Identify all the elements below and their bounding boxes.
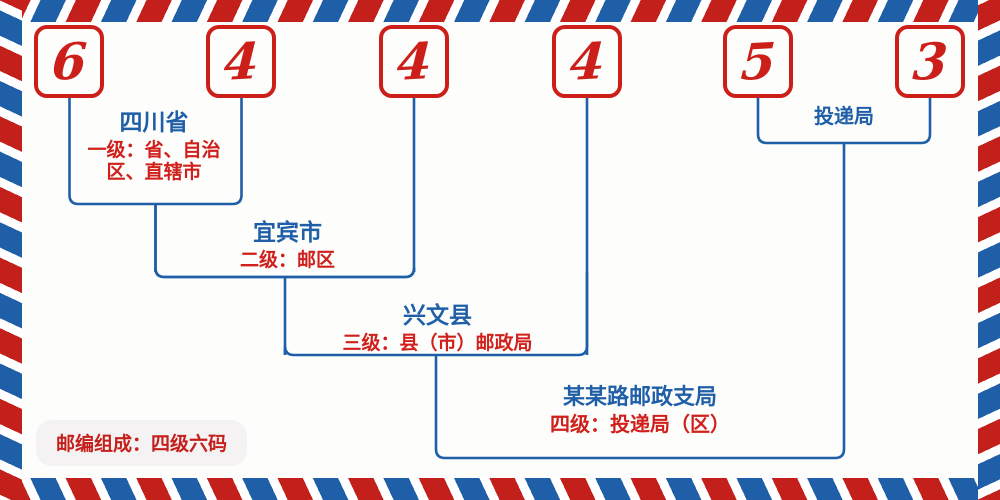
level-3-subtitle: 三级：县（市）邮政局: [300, 332, 575, 354]
digit-glyph: 4: [395, 36, 433, 88]
level-1-node: 四川省 一级：省、自治区、直辖市: [74, 110, 234, 184]
level-4-node: 某某路邮政支局 四级：投递局（区）: [470, 385, 810, 436]
bracket-delivery: [758, 130, 930, 143]
postcode-composition-legend: 邮编组成：四级六码: [36, 420, 247, 466]
level-2-node: 宜宾市 二级：邮区: [180, 220, 395, 271]
level-4-subtitle: 四级：投递局（区）: [470, 413, 810, 437]
postcode-digit-3[interactable]: 4: [379, 25, 449, 98]
envelope-postcode-diagram: 6 4 4 4 5 3 四川省 一级：省、自治区、直辖市 宜宾市 二级：邮区 兴…: [0, 0, 1000, 500]
digit-glyph: 6: [50, 36, 88, 88]
level-1-title: 四川省: [74, 110, 234, 136]
postcode-digit-4[interactable]: 4: [552, 25, 622, 98]
postcode-digit-5[interactable]: 5: [723, 25, 793, 98]
level-2-subtitle: 二级：邮区: [180, 249, 395, 271]
delivery-office-node: 投递局: [764, 105, 924, 127]
level-2-title: 宜宾市: [180, 220, 395, 246]
digit-glyph: 4: [222, 36, 260, 88]
level-3-node: 兴文县 三级：县（市）邮政局: [300, 303, 575, 354]
legend-label: 邮编组成：四级六码: [56, 433, 227, 455]
level-3-title: 兴文县: [300, 303, 575, 329]
delivery-office-title: 投递局: [764, 105, 924, 127]
digit-glyph: 3: [911, 36, 949, 88]
postcode-digit-1[interactable]: 6: [34, 25, 104, 98]
postcode-digit-2[interactable]: 4: [206, 25, 276, 98]
level-4-title: 某某路邮政支局: [470, 385, 810, 410]
level-1-subtitle: 一级：省、自治区、直辖市: [74, 139, 234, 184]
bracket-level-1: [70, 190, 242, 204]
bracket-level-4: [436, 440, 844, 458]
digit-glyph: 4: [568, 36, 606, 88]
postcode-digit-6[interactable]: 3: [895, 25, 965, 98]
digit-glyph: 5: [739, 36, 777, 88]
